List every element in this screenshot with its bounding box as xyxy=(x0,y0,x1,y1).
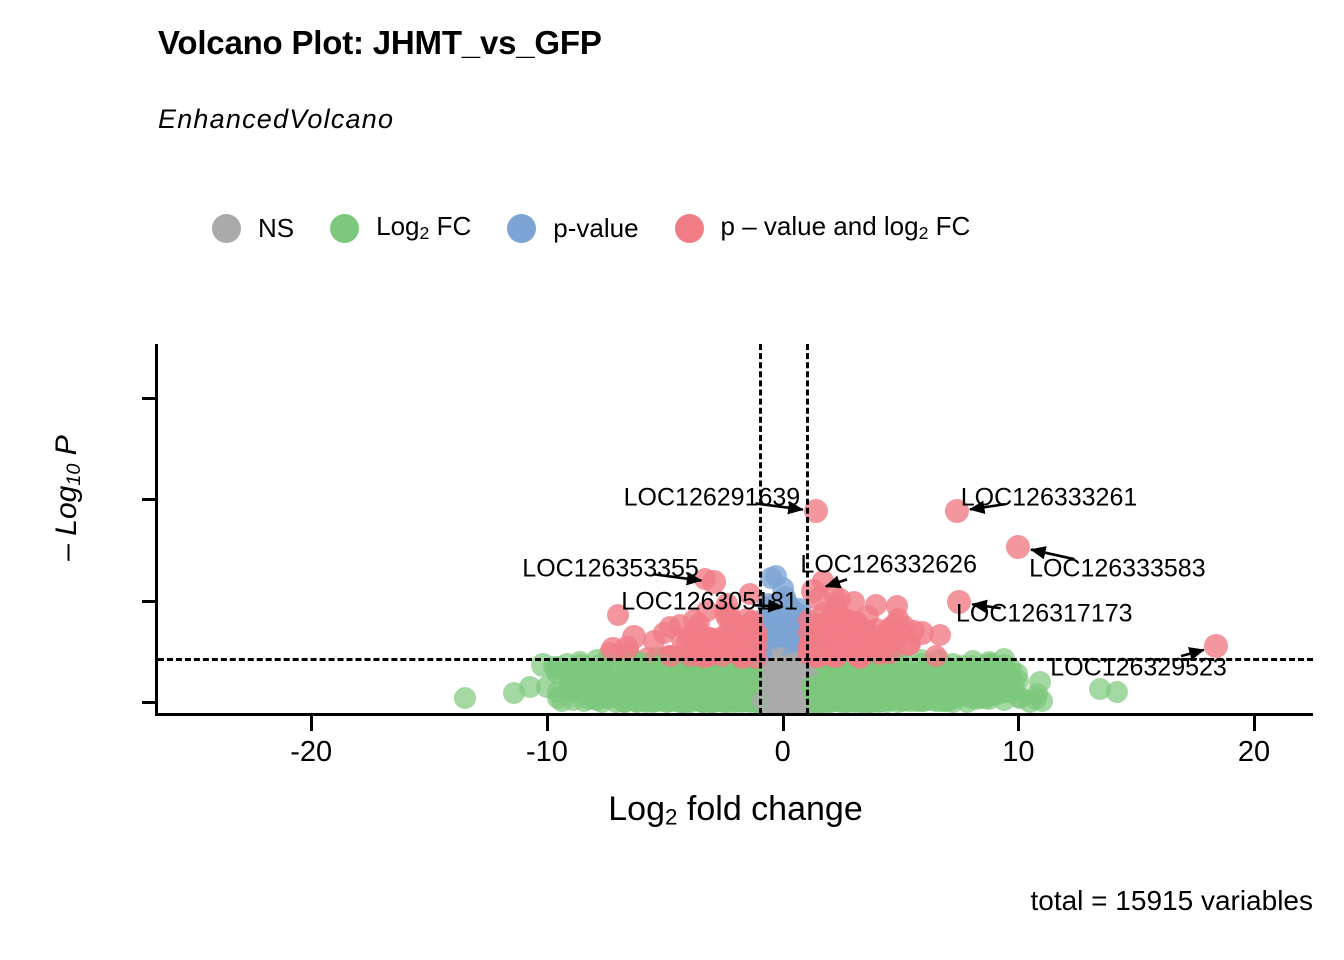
volcano-plot-figure: Volcano Plot: JHMT_vs_GFP EnhancedVolcan… xyxy=(0,0,1344,960)
